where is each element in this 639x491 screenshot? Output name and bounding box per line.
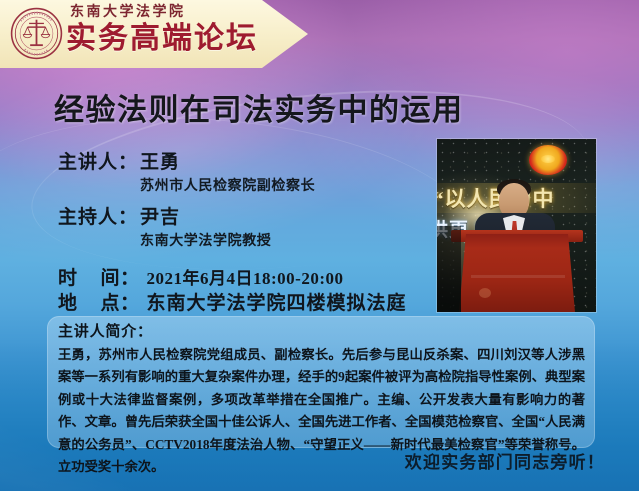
host-label: 主持人：	[58, 205, 140, 231]
venue-value: 东南大学法学院四楼模拟法庭	[147, 291, 407, 316]
biography-panel: 主讲人简介： 王勇，苏州市人民检察院党组成员、副检察长。先后参与昆山反杀案、四川…	[47, 316, 595, 448]
podium-edge	[471, 275, 565, 278]
time-label-char-2: 间	[100, 266, 120, 291]
banner-forum-name: 实务高端论坛	[66, 22, 286, 56]
time-label: 时 间	[58, 266, 120, 291]
venue-label-char-2: 点	[100, 291, 120, 316]
time-colon: ：	[120, 266, 140, 291]
event-details: 主讲人： 王勇 苏州市人民检察院副检察长 主持人： 尹吉 东南大学法学院教授 时…	[58, 150, 407, 316]
photo-backdrop-text-line1: “以人民为中	[437, 183, 555, 213]
banner-text-group: 东南大学法学院 实务高端论坛	[66, 4, 286, 56]
speaker-row: 主讲人： 王勇	[58, 150, 407, 176]
photo-left-shadow	[437, 226, 461, 312]
speaker-photo: “以人民为中 供更 实的 “人	[437, 139, 596, 312]
event-poster: 东南大学法学院 实务高端论坛 经验法则在司法实务中的运用 主讲人： 王勇 苏州市…	[0, 0, 639, 491]
time-value: 2021年6月4日18:00-20:00	[147, 266, 344, 291]
procuratorate-emblem-icon	[529, 145, 567, 175]
speaker-name: 王勇	[140, 150, 180, 176]
footer-note: 欢迎实务部门同志旁听！	[405, 452, 605, 474]
time-label-char-1: 时	[58, 266, 78, 291]
podium-emblem-mark	[479, 288, 491, 298]
speaker-affiliation: 苏州市人民检察院副检察长	[140, 176, 407, 197]
venue-colon: ：	[120, 291, 140, 316]
venue-label-char-1: 地	[58, 291, 78, 316]
venue-row: 地 点 ： 东南大学法学院四楼模拟法庭	[58, 291, 407, 316]
host-affiliation: 东南大学法学院教授	[140, 231, 407, 252]
venue-label: 地 点	[58, 291, 120, 316]
banner-institution: 东南大学法学院	[66, 4, 286, 21]
host-row: 主持人： 尹吉	[58, 205, 407, 231]
poster-title: 经验法则在司法实务中的运用	[54, 92, 464, 130]
time-row: 时 间 ： 2021年6月4日18:00-20:00	[58, 266, 407, 291]
scales-of-justice-seal-icon	[10, 7, 63, 60]
host-name: 尹吉	[140, 205, 180, 231]
biography-heading: 主讲人简介：	[58, 323, 585, 342]
podium	[459, 234, 575, 312]
speaker-label: 主讲人：	[58, 150, 140, 176]
